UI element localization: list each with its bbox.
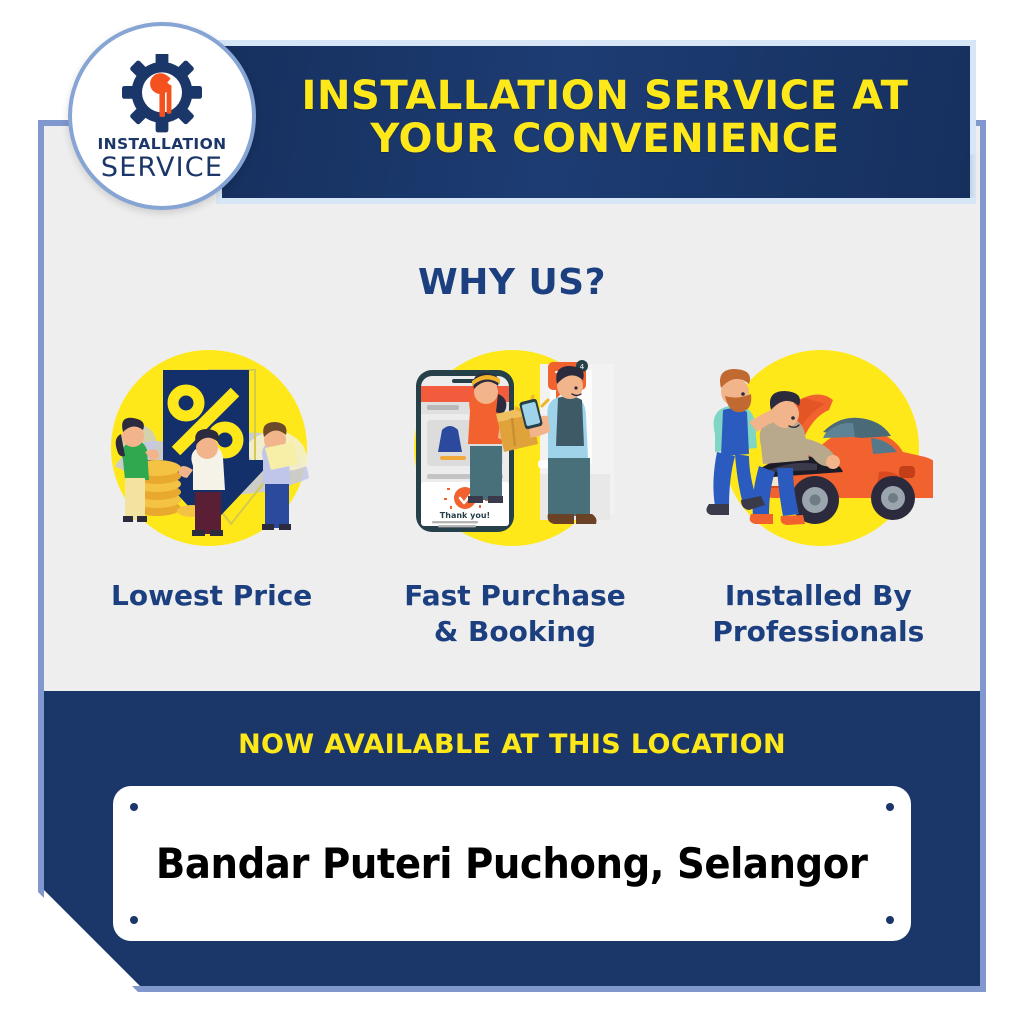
header-banner: INSTALLATION SERVICE AT YOUR CONVENIENCE xyxy=(222,46,970,198)
feature-label: Fast Purchase & Booking xyxy=(404,578,626,650)
features-row: Lowest Price xyxy=(60,348,970,668)
feature-fast-purchase: Thank you! xyxy=(363,348,666,668)
feature-label: Lowest Price xyxy=(111,578,312,614)
screw-icon-bottom-right xyxy=(886,916,894,924)
discount-arrow-icon xyxy=(97,348,327,560)
screw-icon-top-left xyxy=(130,803,138,811)
gear-wrench-icon xyxy=(114,54,210,132)
screw-icon-bottom-left xyxy=(130,916,138,924)
screw-icon-top-right xyxy=(886,803,894,811)
svg-text:Thank you!: Thank you! xyxy=(440,511,490,520)
feature-lowest-price: Lowest Price xyxy=(60,348,363,668)
promo-poster: INSTALLATION SERVICE AT YOUR CONVENIENCE xyxy=(0,0,1024,1024)
mobile-purchase-icon: Thank you! xyxy=(400,348,630,560)
logo-text-service: SERVICE xyxy=(101,152,223,183)
location-name: Bandar Puteri Puchong, Selangor xyxy=(156,839,867,888)
footer-heading: NOW AVAILABLE AT THIS LOCATION xyxy=(44,729,980,760)
car-mechanic-icon xyxy=(703,348,933,560)
location-plate: Bandar Puteri Puchong, Selangor xyxy=(113,786,911,941)
feature-installed-by-professionals: Installed By Professionals xyxy=(667,348,970,668)
section-heading-why-us: WHY US? xyxy=(44,262,980,303)
feature-label: Installed By Professionals xyxy=(712,578,924,650)
page-title: INSTALLATION SERVICE AT YOUR CONVENIENCE xyxy=(253,75,938,169)
logo-text-installation: INSTALLATION xyxy=(97,135,226,153)
brand-logo-badge: INSTALLATION SERVICE xyxy=(68,22,256,210)
